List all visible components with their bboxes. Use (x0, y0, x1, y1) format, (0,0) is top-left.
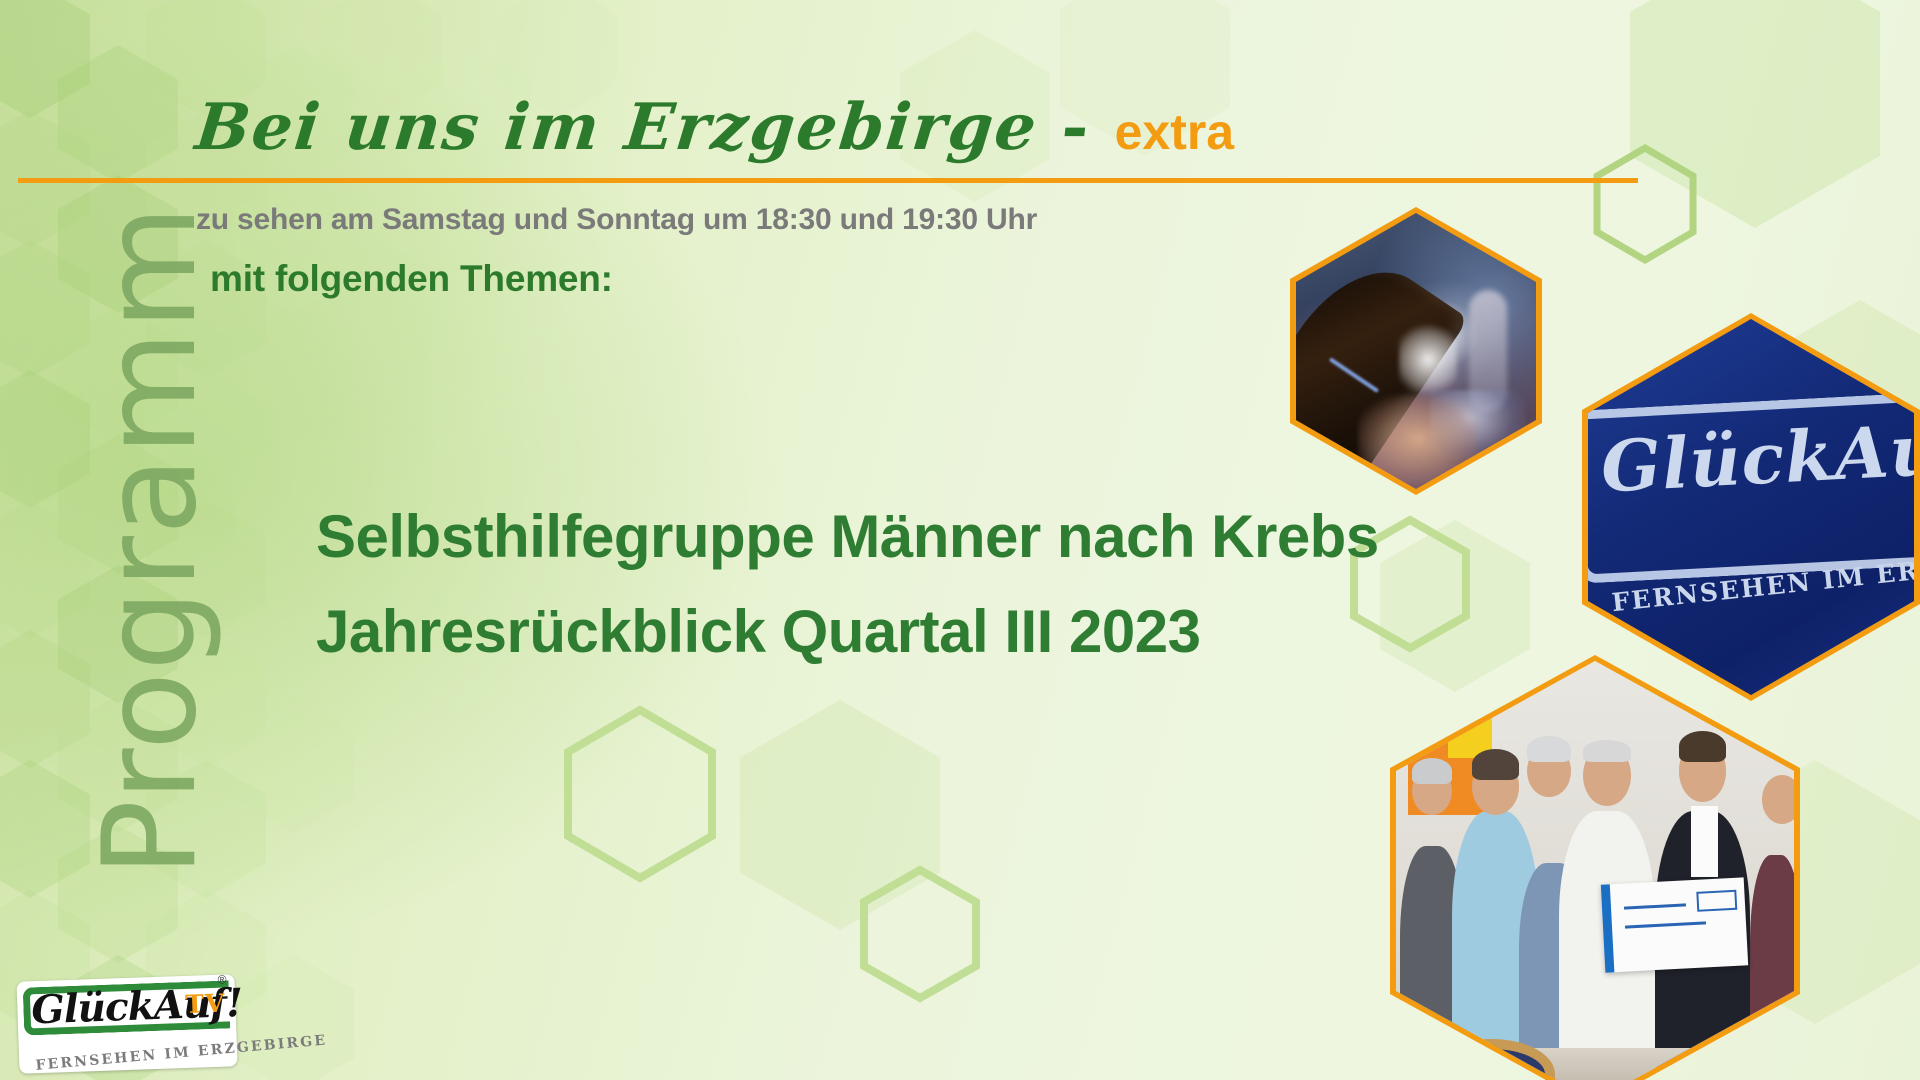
cheque-amount-box (1696, 890, 1737, 911)
topics-intro-text: mit folgenden Themen: (210, 258, 613, 300)
programm-slide: Programm Bei uns im Erzgebirge - extra z… (0, 0, 1920, 1080)
person-hair (1679, 731, 1727, 762)
person-hair (1583, 740, 1631, 762)
topic-item: Selbsthilfegruppe Männer nach Krebs (316, 490, 1376, 585)
header-block: Bei uns im Erzgebirge - extra (196, 96, 1616, 160)
person-hair (1472, 749, 1520, 780)
foam-burst (1399, 318, 1457, 401)
registered-trademark-icon: ® (217, 973, 226, 987)
logo-exclamation: ! (225, 980, 243, 1027)
white-shirt-shape (1691, 806, 1719, 876)
logo-tv-text: TV (185, 989, 226, 1019)
person-head (1762, 775, 1794, 823)
topic-list: Selbsthilfegruppe Männer nach Krebs Jahr… (316, 490, 1376, 680)
cheque-detail-line (1625, 922, 1706, 929)
glueckauf-sign-brand-text: GlückAu (1599, 408, 1914, 508)
title-divider-rule (18, 178, 1638, 183)
person-hair (1412, 758, 1452, 784)
person-hair (1527, 736, 1571, 762)
title-dash: - (1058, 90, 1094, 165)
donation-cheque (1601, 877, 1749, 972)
title-extra-badge: extra (1114, 107, 1234, 157)
logo-word-glueck: Glück (31, 983, 155, 1033)
glueckauf-tv-logo: GlückAuf! TV ® FERNSEHEN IM ERZGEBIRGE (16, 974, 237, 1074)
topic-item: Jahresrückblick Quartal III 2023 (316, 585, 1376, 680)
page-title: Bei uns im Erzgebirge - extra (193, 96, 1620, 160)
airtime-text: zu sehen am Samstag und Sonntag um 18:30… (196, 203, 1037, 237)
show-title-main: Bei uns im Erzgebirge (192, 90, 1042, 165)
cheque-recipient-line (1624, 903, 1686, 909)
